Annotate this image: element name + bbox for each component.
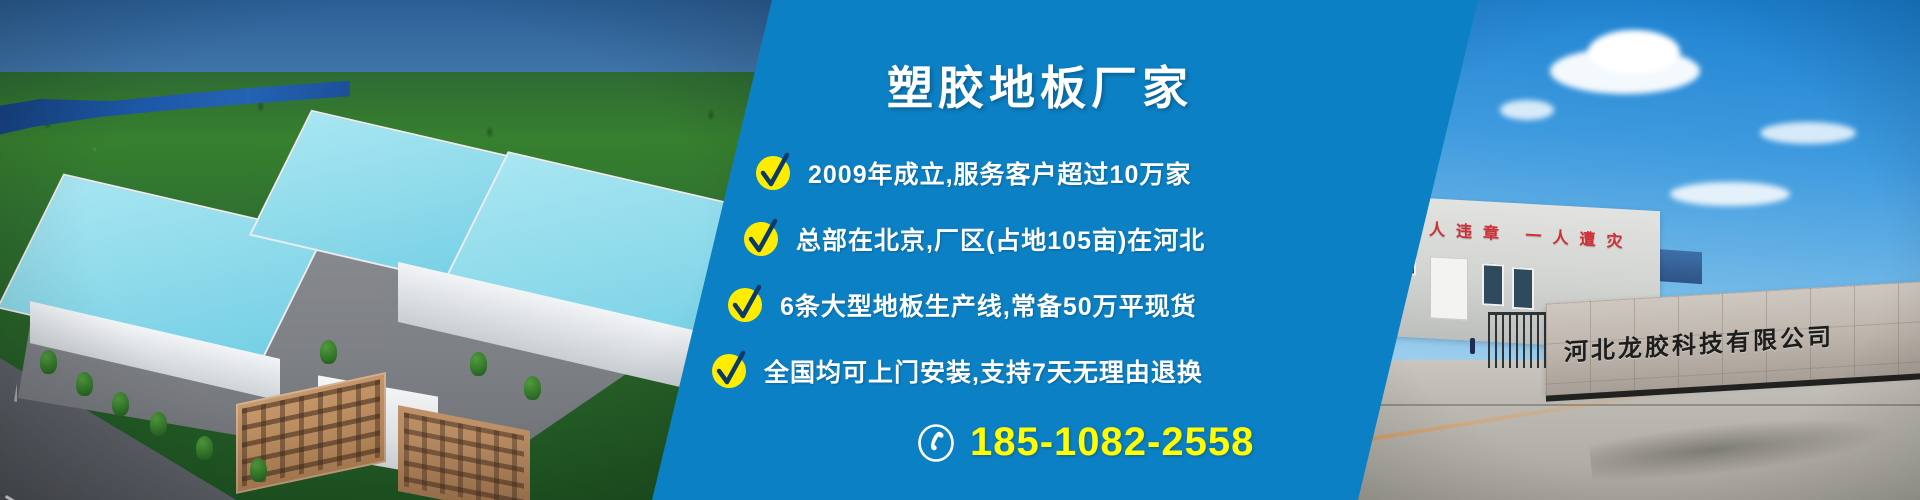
check-circle-icon [728,288,762,322]
list-item-label: 总部在北京,厂区(占地105亩)在河北 [796,221,1205,257]
check-circle-icon [712,354,746,388]
panel-content: 塑胶地板厂家 2009年成立,服务客户超过10万家 总 [640,0,1440,500]
list-item: 6条大型地板生产线,常备50万平现货 [640,272,1440,338]
list-item-label: 6条大型地板生产线,常备50万平现货 [780,287,1197,323]
list-item-label: 2009年成立,服务客户超过10万家 [808,155,1191,191]
check-circle-icon [756,156,790,190]
promo-banner: 一人违章 一人遭灾 他人受累 河北龙胶科技有限公司 塑胶地板厂家 [0,0,1920,500]
telephone-icon [916,423,956,463]
list-item: 2009年成立,服务客户超过10万家 [640,140,1440,206]
list-item: 总部在北京,厂区(占地105亩)在河北 [640,206,1440,272]
phone-cta[interactable]: 185-1082-2558 [640,420,1440,465]
list-item-label: 全国均可上门安装,支持7天无理由退换 [764,353,1203,389]
feature-list: 2009年成立,服务客户超过10万家 总部在北京,厂区(占地105亩)在河北 [640,140,1440,404]
page-title: 塑胶地板厂家 [640,52,1440,118]
list-item: 全国均可上门安装,支持7天无理由退换 [640,338,1440,404]
phone-number[interactable]: 185-1082-2558 [970,420,1254,465]
check-circle-icon [744,222,778,256]
